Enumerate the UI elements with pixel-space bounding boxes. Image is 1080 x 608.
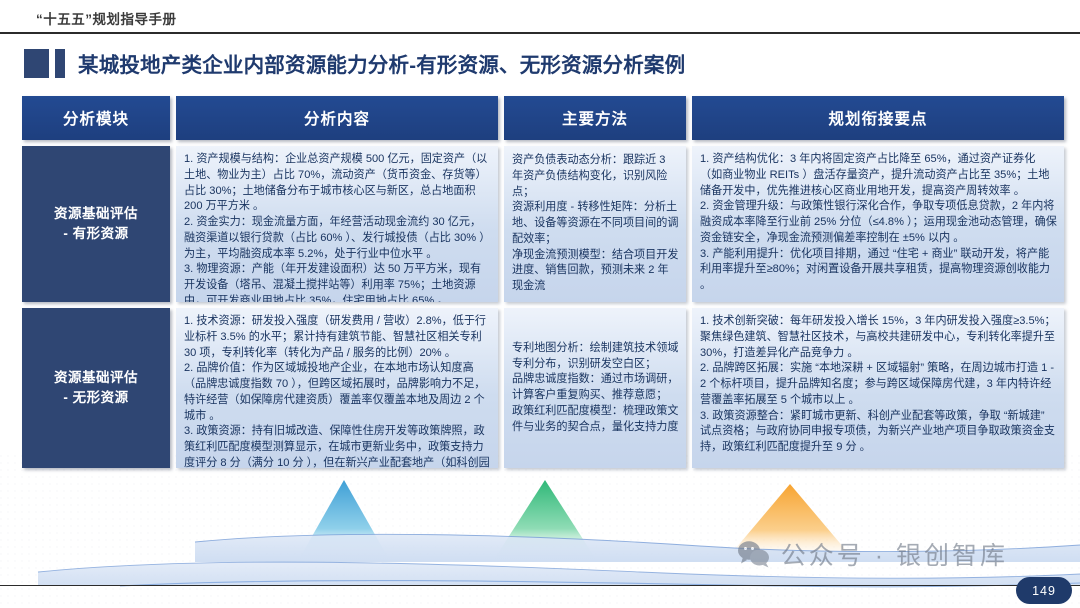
analysis-table: 分析模块 分析内容 主要方法 规划衔接要点 资源基础评估 - 有形资源 1. 资… xyxy=(22,96,1060,474)
row-content-cell: 1. 技术资源：研发投入强度（研发费用 / 营收）2.8%，低于行业标杆 3.5… xyxy=(176,308,498,468)
row-alignment-cell: 1. 资产结构优化：3 年内将固定资产占比降至 65%，通过资产证券化（如商业物… xyxy=(692,146,1064,302)
row-method-cell: 资产负债表动态分析：跟踪近 3 年资产负债结构变化，识别风险点； 资源利用度 -… xyxy=(504,146,686,302)
row-alignment-cell: 1. 技术创新突破：每年研发投入增长 15%，3 年内研发投入强度≥3.5%；聚… xyxy=(692,308,1064,468)
title-marker-wide-icon xyxy=(24,49,49,78)
page-title: 某城投地产类企业内部资源能力分析-有形资源、无形资源分析案例 xyxy=(78,48,685,78)
column-header-content: 分析内容 xyxy=(176,96,498,140)
page-title-row: 某城投地产类企业内部资源能力分析-有形资源、无形资源分析案例 xyxy=(24,46,685,80)
page-number-badge: 149 xyxy=(1016,577,1072,604)
watermark-text: 公众号 · 银创智库 xyxy=(781,536,1008,572)
wechat-icon xyxy=(737,540,771,568)
footer-divider xyxy=(0,585,1080,586)
column-header-alignment: 规划衔接要点 xyxy=(692,96,1064,140)
header-divider xyxy=(0,32,1080,34)
row-module-label: 资源基础评估 - 有形资源 xyxy=(22,146,170,302)
row-module-label: 资源基础评估 - 无形资源 xyxy=(22,308,170,468)
table-row: 资源基础评估 - 无形资源 1. 技术资源：研发投入强度（研发费用 / 营收）2… xyxy=(22,308,1060,468)
peak-blue xyxy=(298,480,390,561)
watermark: 公众号 · 银创智库 xyxy=(737,536,1008,572)
column-header-method: 主要方法 xyxy=(504,96,686,140)
row-content-cell: 1. 资产规模与结构：企业总资产规模 500 亿元，固定资产（以土地、物业为主）… xyxy=(176,146,498,302)
table-header-row: 分析模块 分析内容 主要方法 规划衔接要点 xyxy=(22,96,1060,140)
running-head: “十五五”规划指导手册 xyxy=(36,8,177,28)
peak-green xyxy=(493,480,597,561)
table-row: 资源基础评估 - 有形资源 1. 资产规模与结构：企业总资产规模 500 亿元，… xyxy=(22,146,1060,302)
row-method-cell: 专利地图分析：绘制建筑技术领域专利分布，识别研发空白区； 品牌忠诚度指数：通过市… xyxy=(504,308,686,468)
column-header-module: 分析模块 xyxy=(22,96,170,140)
title-marker-narrow-icon xyxy=(55,49,65,78)
